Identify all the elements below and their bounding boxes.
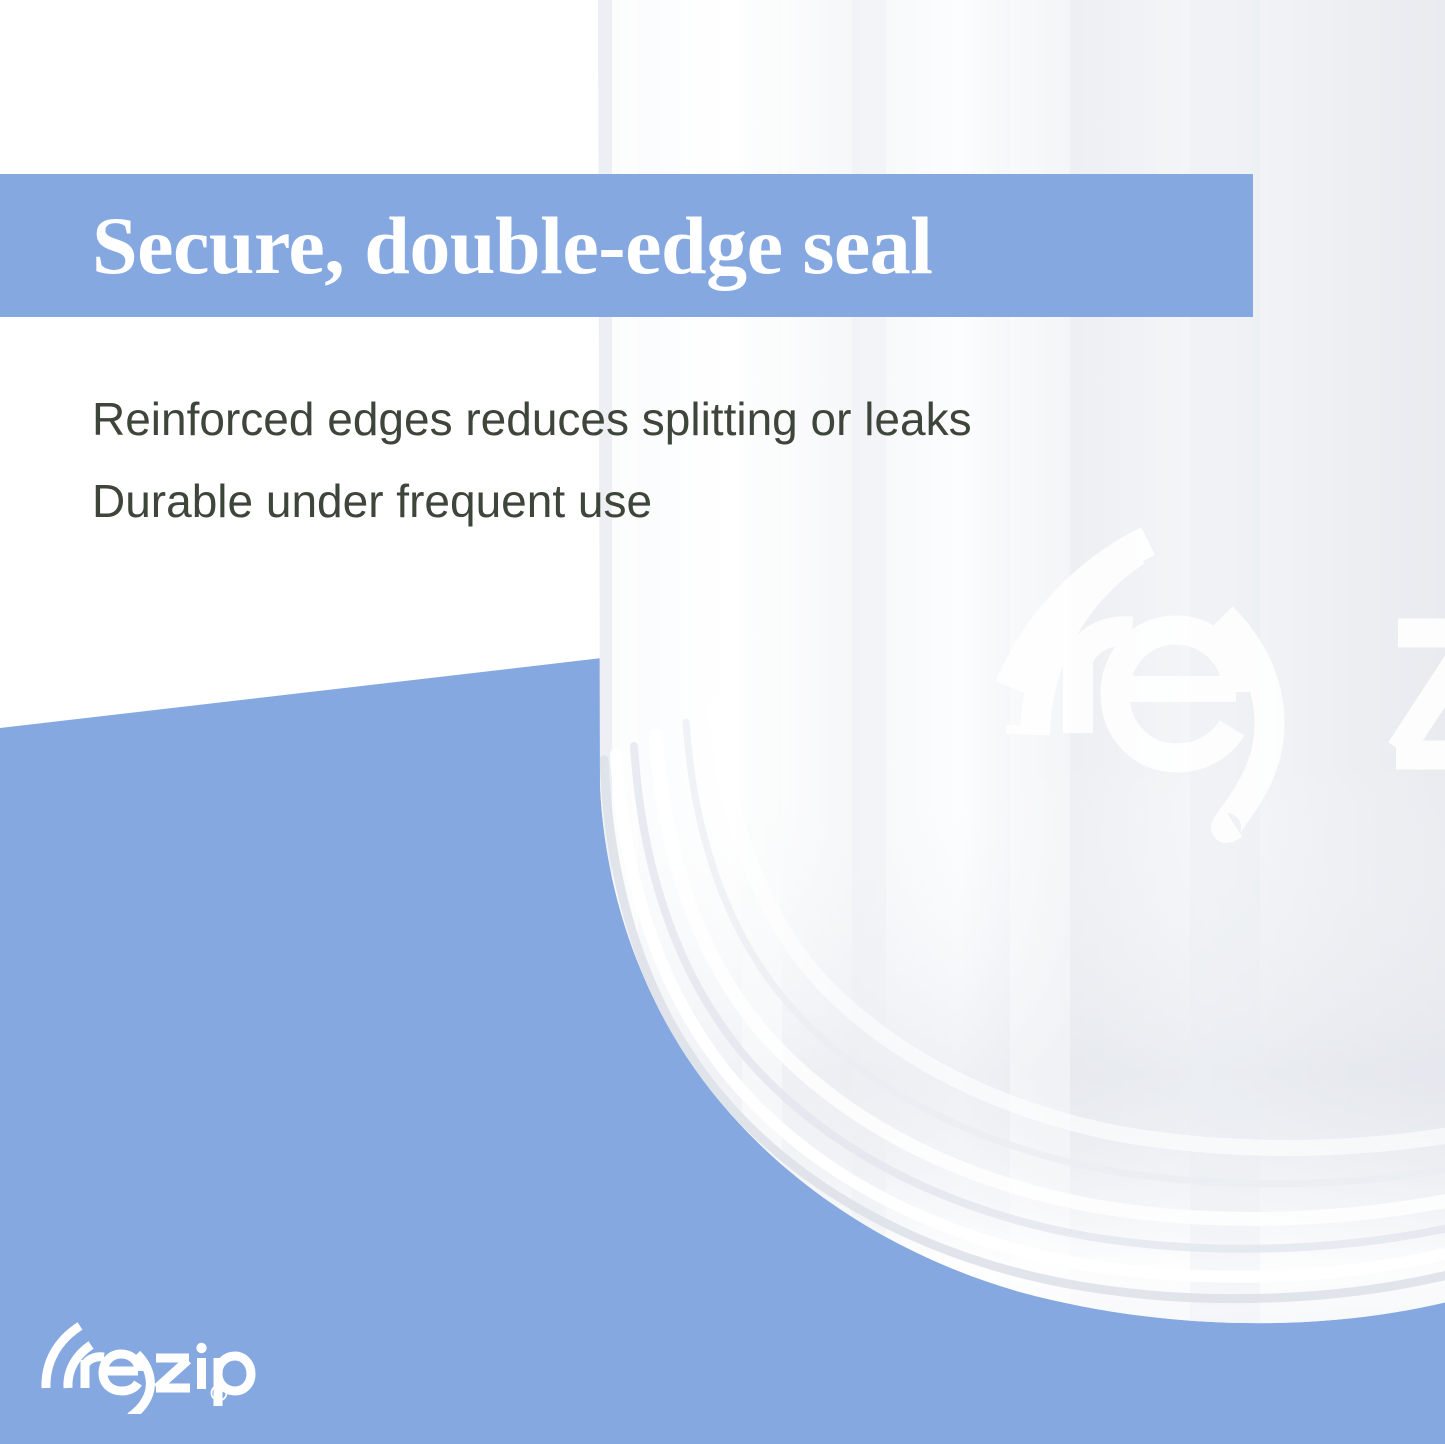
feature-line-2: Durable under frequent use	[92, 460, 1192, 542]
headline-banner: Secure, double-edge seal	[0, 174, 1253, 317]
marketing-infographic-canvas: Secure, double-edge seal Reinforced edge…	[0, 0, 1445, 1444]
feature-line-1: Reinforced edges reduces splitting or le…	[92, 378, 1192, 460]
feature-bullet-list: Reinforced edges reduces splitting or le…	[92, 378, 1192, 542]
rezip-logo-icon: R	[38, 1318, 258, 1414]
headline-title: Secure, double-edge seal	[92, 205, 933, 287]
svg-text:R: R	[216, 1389, 223, 1399]
brand-logo-rezip: R (re)zip	[38, 1318, 258, 1414]
